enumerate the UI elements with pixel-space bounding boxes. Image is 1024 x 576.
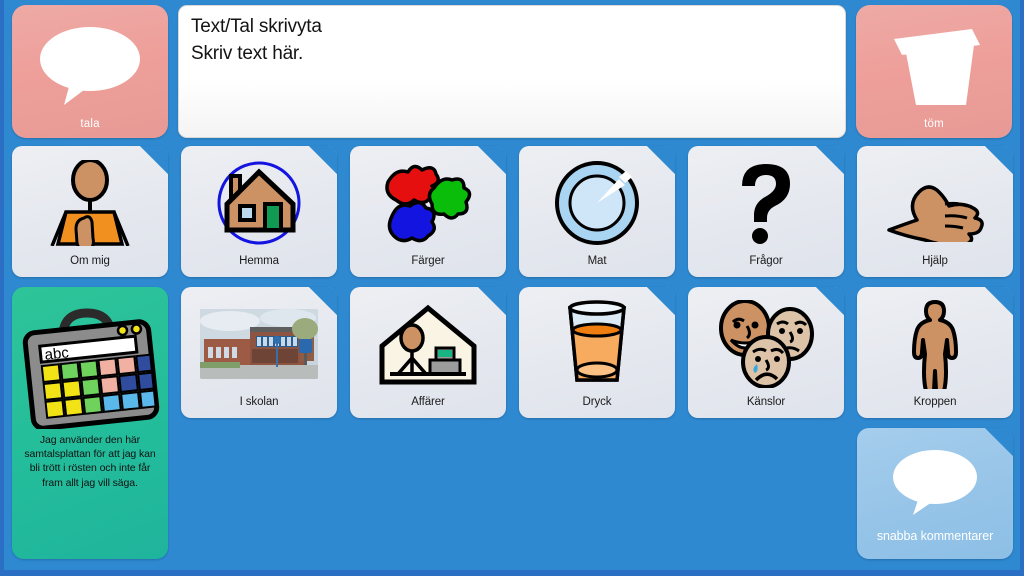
plate-icon bbox=[519, 146, 675, 255]
trash-can-icon bbox=[880, 21, 988, 109]
card-label: snabba kommentarer bbox=[877, 529, 993, 559]
speech-bubble-icon bbox=[857, 428, 1013, 529]
card-label: Frågor bbox=[749, 255, 782, 277]
shop-counter-icon bbox=[350, 287, 506, 396]
human-body-icon bbox=[857, 287, 1013, 396]
card-dryck[interactable]: Dryck bbox=[519, 287, 675, 418]
text-area-value[interactable]: Skriv text här. bbox=[191, 40, 833, 69]
card-hjalp[interactable]: Hjälp bbox=[857, 146, 1013, 277]
symbol-grid: Om mig Hemma bbox=[12, 146, 1012, 559]
glass-of-juice-icon bbox=[519, 287, 675, 396]
svg-text:abc: abc bbox=[44, 344, 70, 363]
card-samtalsplatta-info[interactable]: abc bbox=[12, 287, 168, 559]
card-label: I skolan bbox=[240, 396, 279, 418]
person-pointing-self-icon bbox=[12, 146, 168, 255]
speak-button[interactable]: tala bbox=[12, 5, 168, 138]
text-area-title: Text/Tal skrivyta bbox=[191, 14, 833, 40]
card-label: Affärer bbox=[411, 396, 445, 418]
question-mark-icon bbox=[688, 146, 844, 255]
aac-board-app: tala Text/Tal skrivyta Skriv text här. t… bbox=[0, 0, 1024, 576]
aac-device-icon: abc bbox=[12, 287, 168, 429]
spotlight-note: Jag använder den här samtalsplattan för … bbox=[12, 429, 168, 500]
three-faces-icon bbox=[688, 287, 844, 396]
card-kroppen[interactable]: Kroppen bbox=[857, 287, 1013, 418]
card-label: Mat bbox=[588, 255, 607, 277]
color-scribbles-icon bbox=[350, 146, 506, 255]
speech-bubble-icon bbox=[32, 21, 148, 107]
clear-button[interactable]: töm bbox=[856, 5, 1012, 138]
card-fragor[interactable]: Frågor bbox=[688, 146, 844, 277]
card-label: Färger bbox=[411, 255, 444, 277]
card-hemma[interactable]: Hemma bbox=[181, 146, 337, 277]
speak-button-label: tala bbox=[12, 118, 168, 130]
text-speech-input-area[interactable]: Text/Tal skrivyta Skriv text här. bbox=[178, 5, 846, 138]
card-affarer[interactable]: Affärer bbox=[350, 287, 506, 418]
card-label: Dryck bbox=[583, 396, 612, 418]
card-om-mig[interactable]: Om mig bbox=[12, 146, 168, 277]
card-label: Känslor bbox=[747, 396, 785, 418]
card-label: Hemma bbox=[239, 255, 279, 277]
top-toolbar: tala Text/Tal skrivyta Skriv text här. t… bbox=[12, 5, 1012, 138]
card-farger[interactable]: Färger bbox=[350, 146, 506, 277]
card-kanslor[interactable]: Känslor bbox=[688, 287, 844, 418]
clear-button-label: töm bbox=[856, 118, 1012, 130]
card-mat[interactable]: Mat bbox=[519, 146, 675, 277]
card-label: Hjälp bbox=[922, 255, 948, 277]
card-label: Kroppen bbox=[914, 396, 957, 418]
card-snabba-kommentarer[interactable]: snabba kommentarer bbox=[857, 428, 1013, 559]
open-hand-icon bbox=[857, 146, 1013, 255]
house-in-circle-icon bbox=[181, 146, 337, 255]
school-building-photo bbox=[181, 287, 337, 396]
card-label: Om mig bbox=[70, 255, 110, 277]
card-i-skolan[interactable]: I skolan bbox=[181, 287, 337, 418]
